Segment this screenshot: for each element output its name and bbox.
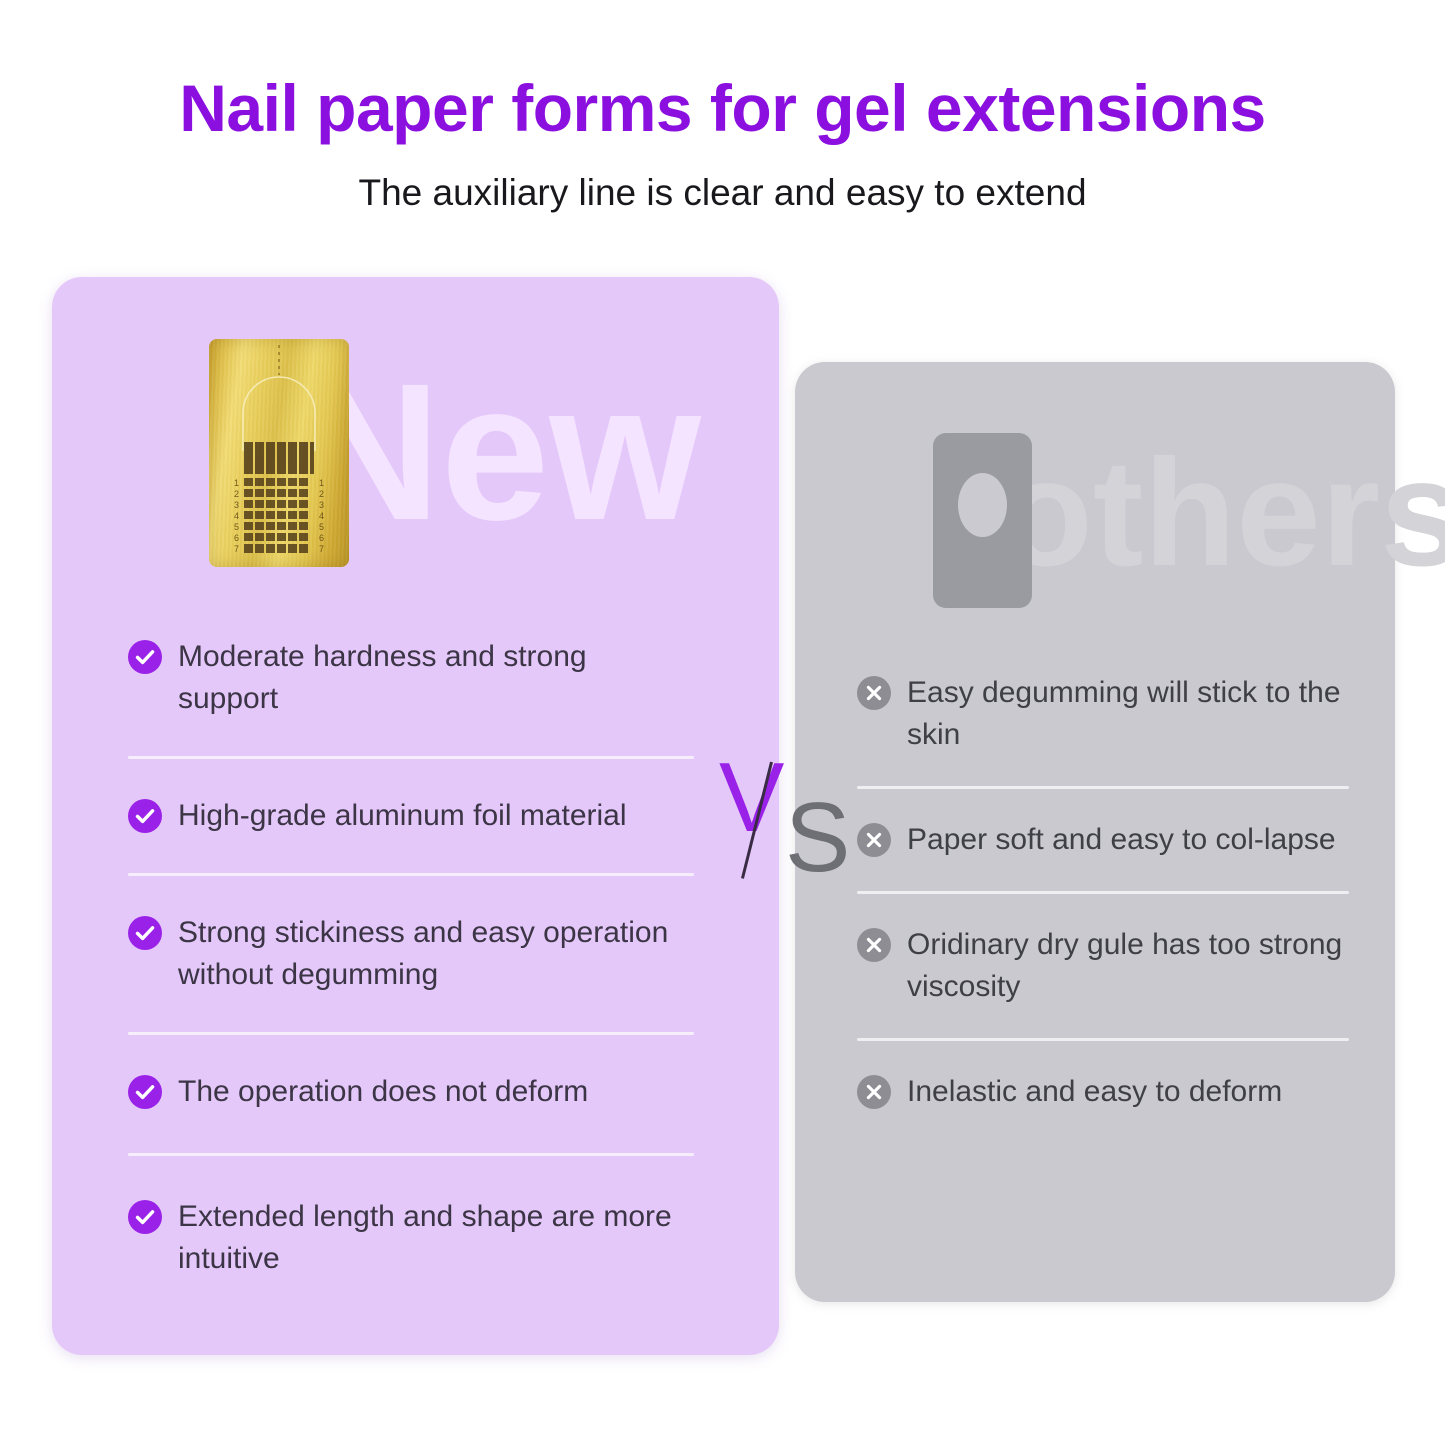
svg-text:3: 3 bbox=[234, 500, 239, 510]
spacer bbox=[128, 1156, 694, 1196]
svg-text:5: 5 bbox=[234, 522, 239, 532]
list-item: High-grade aluminum foil material bbox=[128, 795, 694, 837]
list-item-label: Easy degumming will stick to the skin bbox=[907, 672, 1349, 756]
svg-text:2: 2 bbox=[319, 489, 324, 499]
list-item-label: Oridinary dry gule has too strong viscos… bbox=[907, 924, 1349, 1008]
spacer bbox=[128, 1113, 694, 1153]
svg-text:4: 4 bbox=[319, 511, 324, 521]
spacer bbox=[128, 1035, 694, 1071]
list-item: Strong stickiness and easy operation wit… bbox=[128, 912, 694, 996]
new-feature-list: Moderate hardness and strong support Hig… bbox=[128, 636, 694, 1280]
spacer bbox=[857, 1041, 1349, 1071]
spacer bbox=[128, 876, 694, 912]
list-item-label: High-grade aluminum foil material bbox=[178, 795, 627, 837]
page-title: Nail paper forms for gel extensions bbox=[0, 74, 1445, 143]
infographic-canvas: Nail paper forms for gel extensions The … bbox=[0, 0, 1445, 1445]
svg-text:6: 6 bbox=[319, 533, 324, 543]
spacer bbox=[857, 1008, 1349, 1038]
spacer bbox=[128, 837, 694, 873]
spacer bbox=[857, 861, 1349, 891]
list-item-label: Paper soft and easy to col-lapse bbox=[907, 819, 1336, 861]
page-subtitle: The auxiliary line is clear and easy to … bbox=[0, 172, 1445, 215]
spacer bbox=[128, 996, 694, 1032]
spacer bbox=[857, 789, 1349, 819]
cross-circle-icon bbox=[857, 928, 891, 962]
others-product-image bbox=[933, 433, 1032, 608]
cross-circle-icon bbox=[857, 1075, 891, 1109]
list-item-label: Strong stickiness and easy operation wit… bbox=[178, 912, 694, 996]
list-item: Extended length and shape are more intui… bbox=[128, 1196, 694, 1280]
svg-text:6: 6 bbox=[234, 533, 239, 543]
svg-text:2: 2 bbox=[234, 489, 239, 499]
check-circle-icon bbox=[128, 916, 162, 950]
others-product-oval bbox=[958, 473, 1007, 537]
list-item: The operation does not deform bbox=[128, 1071, 694, 1113]
gold-form-markings: 123 456 7 123 456 7 bbox=[209, 339, 349, 567]
new-product-image: 123 456 7 123 456 7 bbox=[209, 339, 349, 567]
check-circle-icon bbox=[128, 640, 162, 674]
svg-text:5: 5 bbox=[319, 522, 324, 532]
spacer bbox=[128, 720, 694, 756]
svg-text:7: 7 bbox=[234, 544, 239, 554]
svg-text:1: 1 bbox=[319, 478, 324, 488]
list-item: Inelastic and easy to deform bbox=[857, 1071, 1349, 1113]
cross-circle-icon bbox=[857, 823, 891, 857]
svg-text:3: 3 bbox=[319, 500, 324, 510]
cross-circle-icon bbox=[857, 676, 891, 710]
svg-text:1: 1 bbox=[234, 478, 239, 488]
check-circle-icon bbox=[128, 799, 162, 833]
svg-text:7: 7 bbox=[319, 544, 324, 554]
list-item: Oridinary dry gule has too strong viscos… bbox=[857, 924, 1349, 1008]
others-feature-list: Easy degumming will stick to the skin Pa… bbox=[857, 672, 1349, 1113]
spacer bbox=[857, 894, 1349, 924]
svg-text:4: 4 bbox=[234, 511, 239, 521]
list-item-label: Extended length and shape are more intui… bbox=[178, 1196, 694, 1280]
list-item: Paper soft and easy to col-lapse bbox=[857, 819, 1349, 861]
vs-badge: V S bbox=[713, 744, 853, 884]
list-item: Moderate hardness and strong support bbox=[128, 636, 694, 720]
check-circle-icon bbox=[128, 1075, 162, 1109]
list-item-label: Moderate hardness and strong support bbox=[178, 636, 694, 720]
spacer bbox=[857, 756, 1349, 786]
list-item-label: Inelastic and easy to deform bbox=[907, 1071, 1282, 1113]
check-circle-icon bbox=[128, 1200, 162, 1234]
spacer bbox=[128, 759, 694, 795]
list-item-label: The operation does not deform bbox=[178, 1071, 588, 1113]
vs-letter-s: S bbox=[785, 788, 850, 886]
list-item: Easy degumming will stick to the skin bbox=[857, 672, 1349, 756]
